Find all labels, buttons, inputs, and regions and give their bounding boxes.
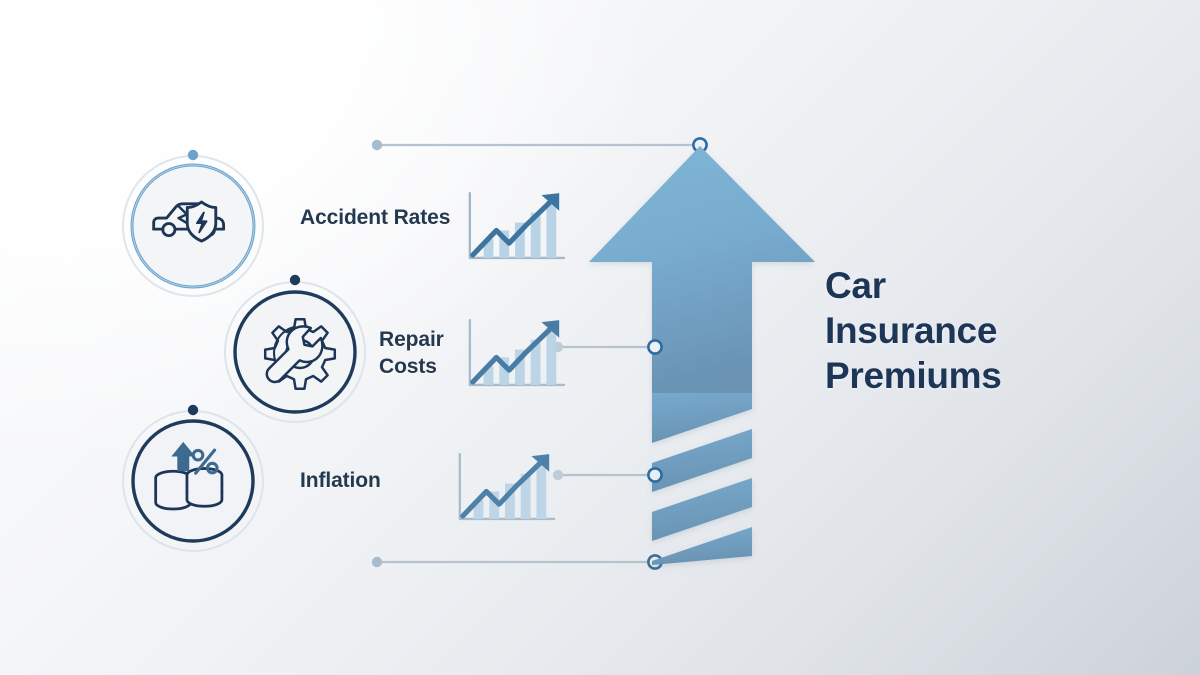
mini-chart-inflation [460,454,554,519]
headline-line-3: Premiums [825,353,1145,398]
factor-label-accident-rates: Accident Rates [300,205,450,232]
factor-circle-repair-costs[interactable] [225,275,365,422]
mini-chart-accident-rates [470,193,564,258]
factor-label-inflation: Inflation [300,468,381,495]
upward-arrow [589,146,815,565]
circle-node-inflation [188,405,198,415]
gear-wrench-icon [265,319,335,389]
connector-bottom [372,555,662,568]
connector-inflation [553,468,662,481]
factor-circle-inflation[interactable] [123,405,263,551]
headline-line-1: Car [825,263,1145,308]
infographic-canvas: Accident Rates Repair Costs Inflation Ca… [0,0,1200,675]
factor-label-repair-costs: Repair Costs [379,327,465,381]
circle-node-repair [290,275,300,285]
connector-repair [553,340,662,353]
page-title: Car Insurance Premiums [825,263,1145,398]
factor-circle-accident-rates[interactable] [123,150,263,296]
circle-node-accident [188,150,198,160]
mini-chart-repair-costs [470,320,564,385]
connector-top [372,138,707,151]
headline-line-2: Insurance [825,308,1145,353]
